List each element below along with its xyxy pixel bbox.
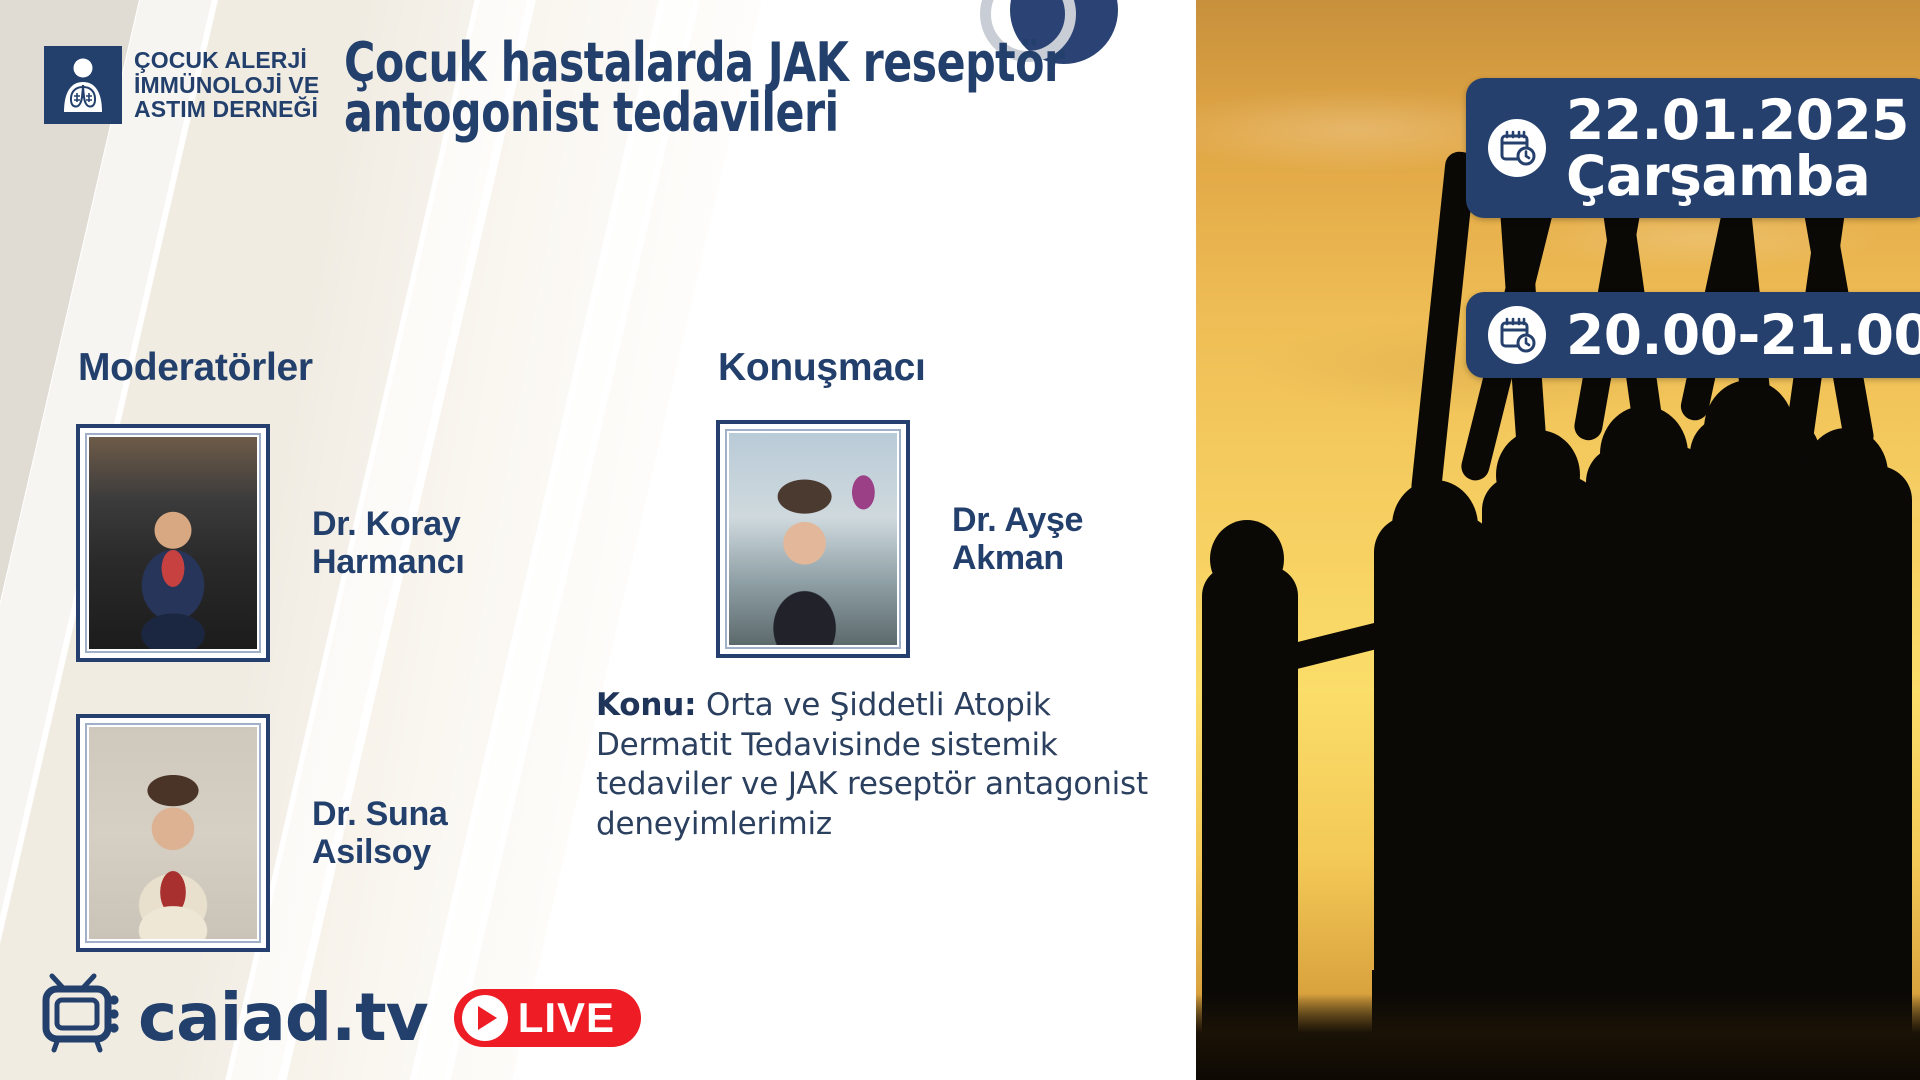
speaker-heading: Konuşmacı [718, 346, 926, 390]
moderator-name-2-line-1: Dr. Suna [312, 795, 448, 833]
television-icon [40, 973, 136, 1062]
moderator-card-1: Dr. Koray Harmancı [76, 424, 465, 662]
speaker-name-line-1: Dr. Ayşe [952, 501, 1083, 539]
title-line-2: antogonist tedavileri [344, 88, 1066, 138]
org-name-line-1: ÇOCUK ALERJİ [134, 48, 319, 73]
speaker-name-line-2: Akman [952, 539, 1083, 577]
brand-name: caiad.tv [138, 985, 428, 1051]
event-date-text: 22.01.2025 Çarşamba [1566, 92, 1909, 204]
speaker-photo [729, 433, 897, 645]
moderator-name-1-line-1: Dr. Koray [312, 505, 465, 543]
topic-label: Konu: [596, 687, 696, 723]
moderators-heading: Moderatörler [78, 346, 313, 390]
event-day: Çarşamba [1566, 148, 1909, 204]
caiad-tv-logo[interactable]: caiad.tv [40, 973, 428, 1062]
ground-horizon [1196, 994, 1920, 1080]
speaker-name: Dr. Ayşe Akman [952, 501, 1083, 577]
webinar-poster: ÇOCUK ALERJİ İMMÜNOLOJİ VE ASTIM DERNEĞİ… [0, 0, 1920, 1080]
org-name-line-3: ASTIM DERNEĞİ [134, 97, 319, 122]
moderator-name-2-line-2: Asilsoy [312, 833, 448, 871]
moderator-photo-2 [89, 727, 257, 939]
moderator-photo-1 [89, 437, 257, 649]
poster-footer: caiad.tv LIVE [40, 973, 641, 1062]
calendar-clock-icon [1488, 119, 1546, 177]
photo-frame [76, 424, 270, 662]
moderator-card-2: Dr. Suna Asilsoy [76, 714, 448, 952]
photo-frame [76, 714, 270, 952]
live-badge[interactable]: LIVE [454, 989, 641, 1047]
topic-block: Konu: Orta ve Şiddetli Atopik Dermatit T… [596, 686, 1196, 845]
play-circle-icon [462, 995, 508, 1041]
left-content-panel: ÇOCUK ALERJİ İMMÜNOLOJİ VE ASTIM DERNEĞİ… [0, 0, 1196, 1080]
organization-logo: ÇOCUK ALERJİ İMMÜNOLOJİ VE ASTIM DERNEĞİ [44, 46, 319, 124]
event-time-badge: 20.00-21.00 [1466, 292, 1920, 378]
speaker-card: Dr. Ayşe Akman [716, 420, 1083, 658]
photo-frame [716, 420, 910, 658]
moderator-name-1-line-2: Harmancı [312, 543, 465, 581]
calendar-clock-icon [1488, 306, 1546, 364]
child-lungs-logo-icon [44, 46, 122, 124]
live-label: LIVE [518, 997, 615, 1039]
organization-name: ÇOCUK ALERJİ İMMÜNOLOJİ VE ASTIM DERNEĞİ [134, 48, 319, 122]
event-time-text: 20.00-21.00 [1566, 307, 1920, 363]
org-name-line-2: İMMÜNOLOJİ VE [134, 73, 319, 98]
page-title: Çocuk hastalarda JAK reseptör antogonist… [344, 38, 1066, 137]
event-date: 22.01.2025 [1566, 92, 1909, 148]
moderator-name-2: Dr. Suna Asilsoy [312, 795, 448, 871]
event-date-badge: 22.01.2025 Çarşamba [1466, 78, 1920, 218]
moderator-name-1: Dr. Koray Harmancı [312, 505, 465, 581]
poster-header: ÇOCUK ALERJİ İMMÜNOLOJİ VE ASTIM DERNEĞİ… [0, 0, 1196, 200]
